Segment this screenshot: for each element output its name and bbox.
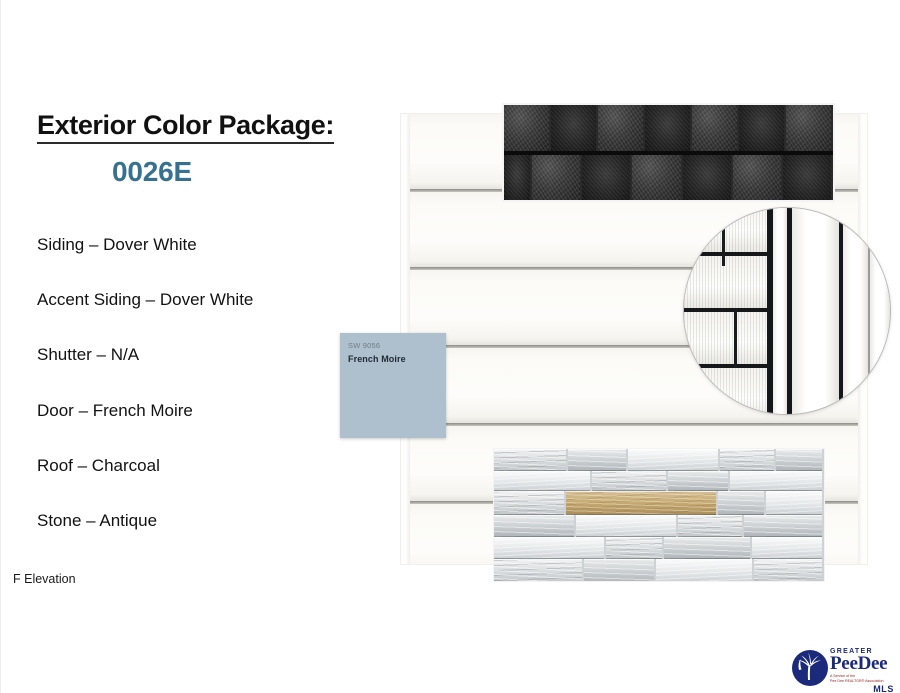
- stone-row: [494, 515, 824, 537]
- stone-block: [568, 449, 626, 471]
- stone-row: [494, 449, 824, 471]
- stone-block: [744, 515, 822, 537]
- logo-tagline: A Service of the Pee Dee REALTOR® Associ…: [830, 674, 894, 684]
- paint-swatch: SW 9056 French Moire: [340, 333, 446, 438]
- spec-item-accent-siding: Accent Siding – Dover White: [37, 291, 367, 310]
- shingle-tab: [504, 155, 530, 202]
- spec-item-door: Door – French Moire: [37, 402, 367, 421]
- mls-logo: GREATER PeeDee A Service of the Pee Dee …: [790, 645, 894, 689]
- spec-list: Siding – Dover White Accent Siding – Dov…: [37, 236, 367, 567]
- stone-block: [678, 515, 742, 537]
- detail-lap: [684, 368, 780, 414]
- spec-item-stone: Stone – Antique: [37, 512, 367, 531]
- palmetto-emblem-icon: [790, 648, 830, 688]
- shingle-tab: [532, 155, 580, 202]
- exterior-color-package-slide: Exterior Color Package: 0026E Siding – D…: [0, 0, 900, 693]
- stone-block-accent: [566, 491, 716, 515]
- shingle-tab: [551, 105, 596, 152]
- mls-logo-text: GREATER PeeDee A Service of the Pee Dee …: [830, 645, 894, 693]
- spec-item-roof: Roof – Charcoal: [37, 457, 367, 476]
- stone-row: [494, 491, 824, 515]
- stone-block: [766, 491, 822, 515]
- stone-block: [494, 515, 574, 537]
- paint-swatch-name: French Moire: [348, 354, 406, 364]
- shingle-tab: [632, 155, 680, 202]
- logo-peedee-label: PeeDee: [830, 655, 894, 673]
- shingle-tab: [692, 105, 737, 152]
- shingle-tab: [683, 155, 731, 202]
- stone-block: [576, 515, 676, 537]
- detail-lap: [684, 312, 780, 368]
- shingle-row: [504, 105, 833, 152]
- stone-row: [494, 471, 824, 491]
- stone-block: [628, 449, 718, 471]
- shingle-tab: [733, 155, 781, 202]
- stone-block: [752, 537, 822, 559]
- roof-shingle-swatch-image: [502, 103, 835, 202]
- shingle-tab: [786, 105, 831, 152]
- stone-block: [656, 559, 752, 582]
- stone-block: [494, 471, 590, 491]
- stone-block: [494, 449, 566, 471]
- shingle-tab: [504, 105, 549, 152]
- stone-block: [664, 537, 750, 559]
- paint-swatch-code: SW 9056: [348, 341, 380, 350]
- detail-nail-line: [722, 228, 725, 266]
- detail-lap: [684, 256, 780, 312]
- stone-block: [494, 491, 564, 515]
- logo-mls-label: MLS: [830, 685, 894, 693]
- spec-item-shutter: Shutter – N/A: [37, 346, 367, 365]
- stone-row: [494, 559, 824, 582]
- stone-block: [592, 471, 666, 491]
- detail-trim-board: [773, 208, 787, 414]
- detail-trim-board: [843, 208, 868, 414]
- stone-block: [494, 559, 582, 582]
- page-title: Exterior Color Package:: [37, 110, 334, 144]
- detail-nail-line: [734, 308, 737, 368]
- shingle-tab: [783, 155, 831, 202]
- detail-lap-column: [684, 208, 780, 414]
- stone-block: [730, 471, 822, 491]
- detail-trim-board: [870, 208, 890, 414]
- shingle-tab: [739, 105, 784, 152]
- title-block: Exterior Color Package: 0026E: [37, 110, 367, 188]
- stone-block: [584, 559, 654, 582]
- detail-lap: [684, 208, 780, 256]
- shingle-tab: [598, 105, 643, 152]
- spec-item-siding: Siding – Dover White: [37, 236, 367, 255]
- stone-block: [668, 471, 728, 491]
- logo-tagline-line2: Pee Dee REALTOR® Association: [830, 679, 894, 684]
- package-code: 0026E: [37, 156, 367, 188]
- siding-detail-circle-image: [684, 208, 890, 414]
- stone-block: [720, 449, 774, 471]
- detail-trim-board: [792, 208, 839, 414]
- stone-block: [606, 537, 662, 559]
- stone-block: [776, 449, 822, 471]
- stone-row: [494, 537, 824, 559]
- stone-block: [754, 559, 822, 582]
- stone-block: [718, 491, 764, 515]
- shingle-row: [504, 155, 833, 202]
- stone-block: [494, 537, 604, 559]
- stone-veneer-swatch-image: [493, 448, 825, 582]
- shingle-tab: [645, 105, 690, 152]
- elevation-note: F Elevation: [13, 572, 76, 586]
- shingle-tab: [582, 155, 630, 202]
